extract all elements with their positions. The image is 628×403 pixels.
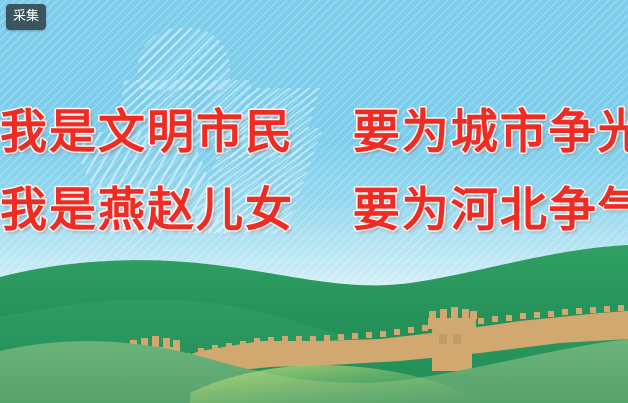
headline-line-1-left: 我是文明市民 <box>0 105 294 160</box>
headline-line-1-right: 要为城市争光 <box>353 105 628 160</box>
poster-canvas: 我是文明市民 要为城市争光 我是燕赵儿女 要为河北争气 采集 <box>0 0 628 403</box>
headline-line-2: 我是燕赵儿女 要为河北争气 <box>0 172 628 250</box>
headline-line-1: 我是文明市民 要为城市争光 <box>0 94 628 172</box>
hills-landscape <box>0 243 628 403</box>
headline-line-2-right: 要为河北争气 <box>353 183 628 238</box>
capture-button[interactable]: 采集 <box>6 4 46 30</box>
poster-headline: 我是文明市民 要为城市争光 我是燕赵儿女 要为河北争气 <box>0 94 628 250</box>
headline-line-2-left: 我是燕赵儿女 <box>0 183 294 238</box>
